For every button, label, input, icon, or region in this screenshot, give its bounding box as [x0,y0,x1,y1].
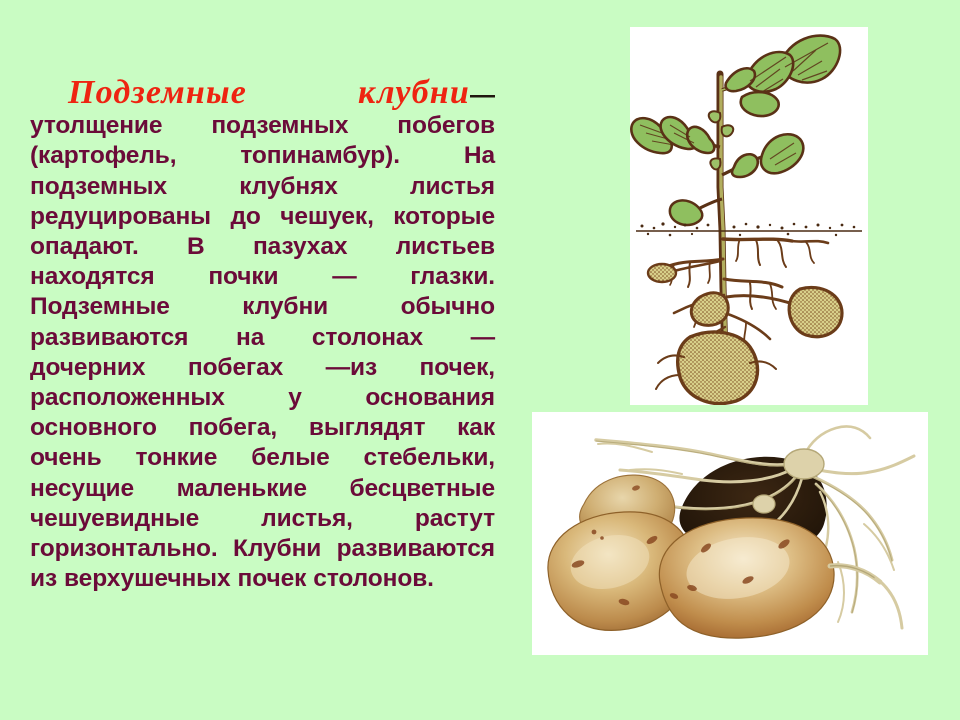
body-text: утолщение подземных побегов (картофель, … [30,112,495,592]
potato-plant-illustration [630,27,868,405]
text-column: Подземные клубни— утолщение подземных по… [30,78,495,594]
potato-tubers-illustration [532,412,928,655]
slide-canvas: Подземные клубни— утолщение подземных по… [0,0,960,720]
figure-potato-tubers-photo [532,412,928,655]
body-paragraph: Подземные клубни— утолщение подземных по… [30,78,495,594]
page-title: Подземные клубни [30,74,470,111]
figure-potato-plant-diagram [630,27,868,405]
title-dash: — [470,81,495,109]
